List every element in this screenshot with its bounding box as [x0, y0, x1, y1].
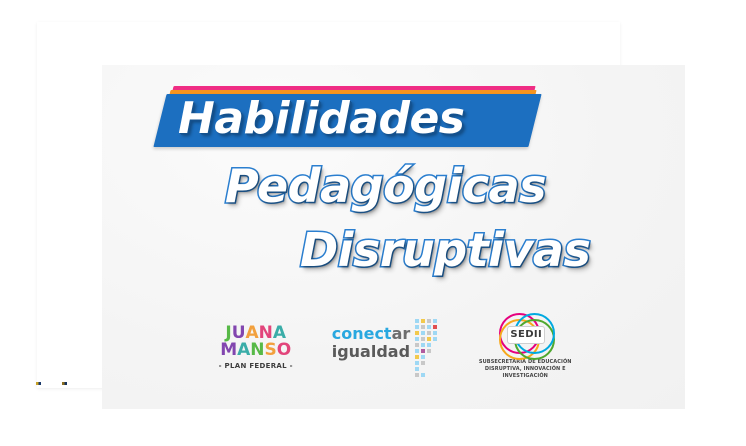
juana-manso-letter: S: [265, 342, 277, 359]
sedii-rings-icon: SEDII: [493, 313, 557, 357]
screenshot-viewport: Habilidades Pedagógicas Disruptivas JUAN…: [0, 0, 746, 446]
title-line-habilidades: Habilidades: [178, 93, 464, 145]
logo-sedii: SEDII SUBSECRETARÍA DE EDUCACIÓN DISRUPT…: [473, 309, 577, 380]
dot-cell: [427, 349, 431, 353]
dot-cell: [439, 349, 443, 353]
dot-cell: [421, 331, 425, 335]
dot-cell: [415, 343, 419, 347]
dot-cell: [439, 343, 443, 347]
conectar-igualdad-line-1: conectar: [332, 325, 411, 343]
dot-cell: [421, 355, 425, 359]
dot-cell: [421, 367, 425, 371]
dot-cell: [433, 361, 437, 365]
juana-manso-letter: M: [220, 342, 237, 359]
dot-cell: [439, 331, 443, 335]
dot-cell: [439, 337, 443, 341]
dot-cell: [415, 367, 419, 371]
juana-manso-letter: N: [250, 342, 264, 359]
dot-cell: [415, 319, 419, 323]
dot-cell: [415, 337, 419, 341]
dot-cell: [433, 337, 437, 341]
title-block: Habilidades Pedagógicas Disruptivas: [102, 65, 685, 290]
slide-frame: Habilidades Pedagógicas Disruptivas JUAN…: [37, 22, 620, 388]
dot-cell: [427, 331, 431, 335]
dot-cell: [433, 355, 437, 359]
dot-cell: [427, 337, 431, 341]
conectar-text: conect: [332, 324, 392, 343]
stray-mark-right: [62, 382, 67, 385]
dot-cell: [415, 349, 419, 353]
dot-cell: [439, 325, 443, 329]
sedii-badge: SEDII: [507, 326, 545, 344]
slide-canvas: Habilidades Pedagógicas Disruptivas JUAN…: [102, 65, 685, 409]
juana-manso-tagline: - PLAN FEDERAL -: [210, 362, 302, 370]
juana-manso-line-2: MANSO: [210, 342, 302, 359]
ar-text: ar: [392, 324, 411, 343]
stray-mark-left: [36, 382, 41, 385]
title-line-pedagogicas: Pedagógicas: [225, 159, 546, 213]
dot-cell: [427, 367, 431, 371]
dot-cell: [421, 325, 425, 329]
dot-cell: [415, 361, 419, 365]
juana-manso-letter: A: [237, 342, 250, 359]
dot-cell: [415, 373, 419, 377]
dot-cell: [421, 337, 425, 341]
conectar-igualdad-dot-matrix-icon: [415, 319, 443, 377]
dot-cell: [433, 325, 437, 329]
logo-conectar-igualdad: conectar igualdad: [332, 309, 444, 377]
dot-cell: [433, 367, 437, 371]
title-line-disruptivas: Disruptivas: [300, 223, 590, 277]
dot-cell: [427, 325, 431, 329]
dot-cell: [421, 361, 425, 365]
dot-cell: [439, 373, 443, 377]
dot-cell: [427, 319, 431, 323]
dot-cell: [427, 361, 431, 365]
sedii-caption: SUBSECRETARÍA DE EDUCACIÓN DISRUPTIVA, I…: [473, 359, 577, 380]
dot-cell: [421, 343, 425, 347]
dot-cell: [415, 355, 419, 359]
conectar-igualdad-wordmark: conectar igualdad: [332, 325, 411, 361]
dot-cell: [415, 325, 419, 329]
dot-cell: [421, 373, 425, 377]
logo-strip: JUANA MANSO - PLAN FEDERAL - conectar ig…: [102, 309, 685, 401]
igualdad-text: igualdad: [332, 343, 411, 361]
logo-juana-manso: JUANA MANSO - PLAN FEDERAL -: [210, 309, 302, 370]
dot-cell: [439, 361, 443, 365]
dot-cell: [439, 319, 443, 323]
dot-cell: [427, 355, 431, 359]
dot-cell: [433, 331, 437, 335]
dot-cell: [427, 343, 431, 347]
dot-cell: [421, 349, 425, 353]
dot-cell: [433, 319, 437, 323]
dot-cell: [439, 367, 443, 371]
dot-cell: [433, 373, 437, 377]
dot-cell: [415, 331, 419, 335]
dot-cell: [421, 319, 425, 323]
dot-cell: [433, 349, 437, 353]
dot-cell: [427, 373, 431, 377]
dot-cell: [433, 343, 437, 347]
dot-cell: [439, 355, 443, 359]
juana-manso-letter: O: [277, 342, 291, 359]
